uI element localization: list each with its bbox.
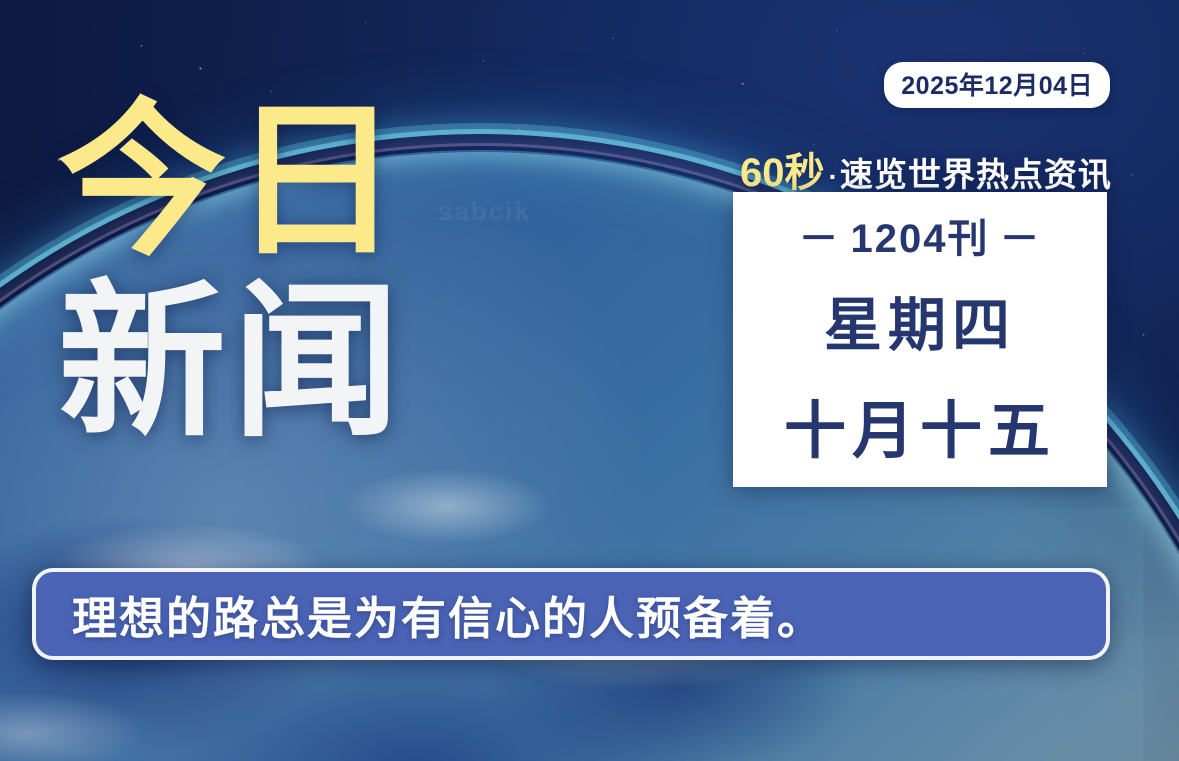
issue-row: －1204刊－ — [789, 206, 1052, 264]
quote-banner: 理想的路总是为有信心的人预备着。 — [32, 568, 1110, 660]
info-card: －1204刊－ 星期四 十月十五 — [733, 192, 1107, 487]
tagline-separator: · — [825, 161, 840, 192]
poster-canvas: sabcik 今日 新闻 2025年12月04日 60秒·速览世界热点资讯 －1… — [0, 0, 1179, 761]
date-badge: 2025年12月04日 — [884, 62, 1110, 108]
lunar-date-label: 十月十五 — [784, 380, 1056, 470]
tagline-seconds: 60秒 — [740, 151, 825, 195]
weekday-label: 星期四 — [824, 278, 1016, 362]
watermark-text: sabcik — [438, 196, 531, 227]
poster-title: 今日 新闻 — [58, 96, 406, 449]
tagline-description: 速览世界热点资讯 — [840, 156, 1112, 193]
quote-text: 理想的路总是为有信心的人预备着。 — [36, 582, 824, 647]
issue-dash-right: － — [989, 217, 1051, 261]
title-line-today: 今日 — [58, 96, 406, 267]
issue-number: 1204刊 — [851, 217, 990, 261]
issue-dash-left: － — [789, 217, 851, 261]
tagline: 60秒·速览世界热点资讯 — [740, 140, 1112, 198]
title-line-news: 新闻 — [58, 277, 406, 448]
